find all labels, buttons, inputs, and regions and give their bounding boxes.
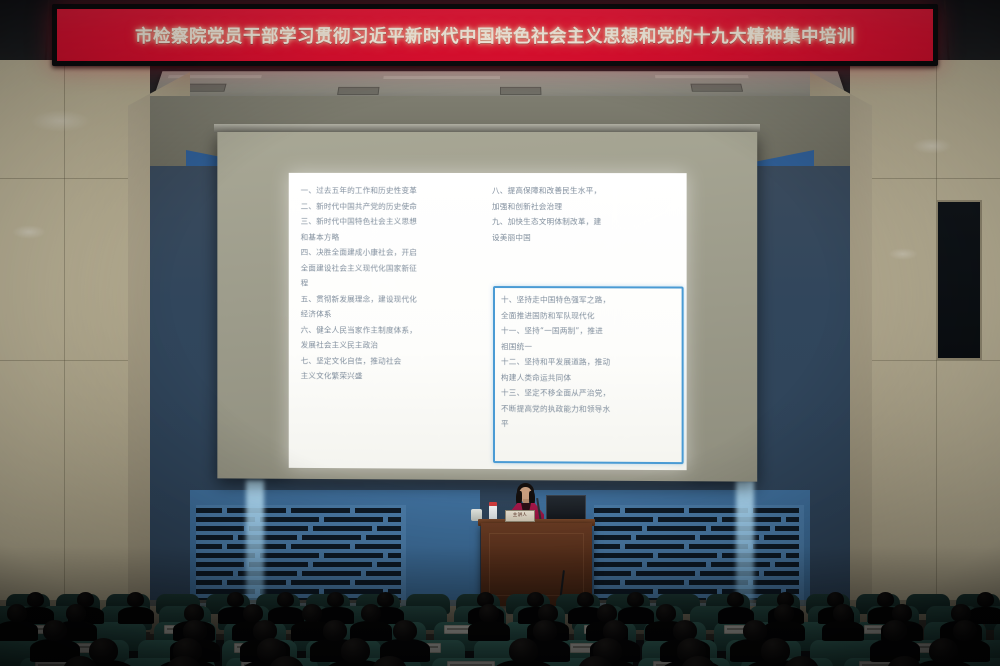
grille-slat: [196, 580, 222, 585]
audience-shoulders: [468, 621, 510, 641]
ceiling-vent-mid-right: [500, 87, 541, 95]
audience-head: [977, 592, 994, 607]
audience-head: [877, 592, 894, 607]
slide-line: 设美丽中国: [492, 230, 675, 246]
audience-head: [7, 604, 27, 622]
led-banner-frame: 市检察院党员干部学习贯彻习近平新时代中国特色社会主义思想和党的十九大精神集中培训: [52, 4, 938, 66]
audience-shoulders: [618, 607, 654, 624]
ceiling-light-strip-3: [655, 75, 749, 78]
grille-slat: [786, 517, 799, 522]
audience-head: [302, 604, 322, 622]
grille-slat: [636, 535, 695, 540]
grille-slat: [196, 544, 222, 549]
grille-slat: [594, 526, 642, 531]
grille-slat: [291, 544, 350, 549]
grille-slat: [291, 580, 350, 585]
name-card-text: [450, 664, 492, 666]
grille-slat: [196, 571, 233, 576]
audience-head: [656, 604, 676, 622]
slide-left-column: 一、过去五年的工作和历史性变革 二、新时代中国共产党的历史使命 三、新时代中国特…: [301, 183, 482, 461]
audience-head: [361, 604, 381, 622]
slide-line: 祖国统一: [495, 339, 682, 355]
wall-highlight: [12, 225, 46, 239]
audience-head: [953, 620, 977, 641]
slide-line: 四、决胜全面建成小康社会，开启: [301, 245, 482, 261]
exit-door: [936, 200, 982, 360]
audience-head: [727, 592, 744, 607]
grille-slat: [625, 508, 684, 513]
grille-slat: [658, 517, 717, 522]
grille-slat: [313, 562, 372, 567]
grille-slat: [196, 535, 233, 540]
slide-line: 不断提高党的执政能力和领导水: [495, 401, 682, 417]
audience-head: [327, 592, 344, 607]
slide-line: 七、坚定文化自信，推动社会: [301, 353, 482, 369]
presentation-slide: 一、过去五年的工作和历史性变革 二、新时代中国共产党的历史使命 三、新时代中国特…: [289, 173, 687, 470]
grille-slat: [260, 553, 319, 558]
audience-head: [89, 638, 118, 663]
grille-slat: [366, 535, 401, 540]
slide-line: 全面推进国防和军队现代化: [495, 308, 682, 324]
grille-slat: [647, 562, 706, 567]
ceiling-vent-right: [690, 84, 743, 92]
audience-head: [833, 604, 853, 622]
slide-line: 构建人类命运共同体: [495, 370, 682, 386]
wall-seam: [64, 60, 65, 620]
audience-head: [227, 592, 244, 607]
slide-line: 五、贯彻新发展理念，建设现代化: [301, 291, 482, 307]
grille-slat: [594, 508, 620, 513]
projection-screen: 一、过去五年的工作和历史性变革 二、新时代中国共产党的历史使命 三、新时代中国特…: [217, 132, 757, 482]
audience-head: [43, 620, 67, 641]
slide-line: 全面建设社会主义现代化国家新征: [301, 260, 482, 276]
slide-line: 主义文化繁荣兴盛: [301, 368, 482, 384]
grille-slat: [594, 544, 620, 549]
grille-slat: [594, 562, 642, 567]
laptop-screen: [546, 495, 586, 522]
slide-line: 九、加快生态文明体制改革，建: [492, 214, 675, 230]
grille-slat: [775, 526, 799, 531]
led-banner: 市检察院党员干部学习贯彻习近平新时代中国特色社会主义思想和党的十九大精神集中培训: [57, 9, 933, 61]
slide-line: 平: [495, 416, 682, 432]
grille-slat: [196, 562, 244, 567]
water-bottle-cap: [489, 502, 497, 506]
wall-highlight: [888, 248, 918, 260]
grille-slat: [658, 553, 717, 558]
audience-head: [127, 592, 144, 607]
grille-slat: [775, 562, 799, 567]
grille-slat: [388, 517, 401, 522]
audience-head: [743, 620, 767, 641]
audience-head: [761, 638, 790, 663]
grille-slat: [313, 526, 372, 531]
audience-shoulders: [118, 607, 154, 624]
slide-line: 经济体系: [301, 306, 482, 322]
audience-head: [627, 592, 644, 607]
grille-slat: [753, 544, 799, 549]
grille-slat: [260, 517, 319, 522]
slide-line: 八、提高保障和改善民生水平，: [492, 183, 675, 199]
seat-name-card: [447, 661, 495, 666]
slide-line: 发展社会主义民主政治: [301, 337, 482, 353]
grille-slat: [355, 544, 401, 549]
ceiling-vent-mid-left: [337, 87, 379, 95]
grille-slat: [291, 508, 350, 513]
slide-line: 二、新时代中国共产党的历史使命: [301, 198, 482, 214]
grille-slat: [324, 553, 383, 558]
ceiling-light-strip-2: [383, 76, 500, 79]
grille-slat: [786, 553, 799, 558]
grille-slat: [594, 553, 653, 558]
wall-highlight: [912, 138, 952, 154]
audience-head: [509, 638, 538, 663]
audience-head: [951, 604, 971, 622]
audience-head: [577, 592, 594, 607]
wall-seam: [850, 360, 1000, 361]
audience-head: [774, 604, 794, 622]
wall-seam: [0, 360, 150, 361]
audience-head: [377, 592, 394, 607]
slide-line: 一、过去五年的工作和历史性变革: [301, 183, 482, 199]
audience-head: [277, 592, 294, 607]
audience-head: [533, 620, 557, 641]
grille-slat: [625, 580, 684, 585]
audience-shoulders: [0, 621, 38, 641]
podium-nameplate: 主讲人: [505, 510, 535, 522]
slide-line: 十二、坚持和平发展道路，推动: [495, 354, 682, 370]
podium-panel: [489, 533, 584, 596]
slide-line: 程: [301, 276, 482, 292]
podium-nameplate-text: 主讲人: [506, 511, 534, 521]
grille-slat: [625, 544, 684, 549]
grille-slat: [388, 553, 401, 558]
grille-slat: [764, 535, 799, 540]
grille-slat: [594, 580, 620, 585]
wall-left: [0, 60, 150, 620]
grille-slat: [594, 571, 631, 576]
grille-slat: [753, 580, 799, 585]
grille-slat: [302, 571, 361, 576]
slide-line: 十、坚持走中国特色强军之路，: [495, 292, 682, 308]
audience-head: [538, 604, 558, 622]
audience-head: [883, 620, 907, 641]
slide-line: 和基本方略: [301, 229, 482, 245]
grille-slat: [302, 535, 361, 540]
grille-slat: [355, 508, 401, 513]
slide-line: 加强和创新社会治理: [492, 199, 675, 215]
audience-head: [479, 604, 499, 622]
grille-slat: [647, 526, 706, 531]
audience-head: [323, 620, 347, 641]
grille-slat: [366, 571, 401, 576]
banner-title-text: 市检察院党员干部学习贯彻习近平新时代中国特色社会主义思想和党的十九大精神集中培训: [135, 23, 855, 48]
slide-line: 十三、坚定不移全面从严治党，: [495, 385, 682, 401]
grille-slat: [377, 526, 401, 531]
audience-head: [243, 604, 263, 622]
grille-slat: [355, 580, 401, 585]
audience-head: [27, 592, 44, 607]
audience-head: [393, 620, 417, 641]
grille-slat: [636, 571, 695, 576]
grille-slat: [753, 508, 799, 513]
grille-slat: [594, 535, 631, 540]
audience-head: [929, 638, 958, 663]
grille-slat: [377, 562, 401, 567]
slide-line: 六、健全人民当家作主制度体系，: [301, 322, 482, 338]
slide-line: 十一、坚持“一国两制”，推进: [495, 323, 682, 339]
audience-shoulders: [822, 621, 864, 641]
grille-slat: [196, 508, 222, 513]
slide-highlight-box: 十、坚持走中国特色强军之路， 全面推进国防和军队现代化 十一、坚持“一国两制”，…: [493, 286, 684, 464]
wall-seam: [850, 178, 1000, 179]
audience-head: [66, 604, 86, 622]
audience-area: [0, 588, 1000, 666]
auditorium-photo: 市检察院党员干部学习贯彻习近平新时代中国特色社会主义思想和党的十九大精神集中培训…: [0, 0, 1000, 666]
slide-line: 三、新时代中国特色社会主义思想: [301, 214, 482, 230]
audience-head: [341, 638, 370, 663]
grille-slat: [594, 517, 653, 522]
grille-slat: [324, 517, 383, 522]
grille-slat: [196, 526, 244, 531]
wall-seam: [0, 178, 150, 179]
wall-highlight: [30, 110, 90, 132]
grille-slat: [764, 571, 799, 576]
